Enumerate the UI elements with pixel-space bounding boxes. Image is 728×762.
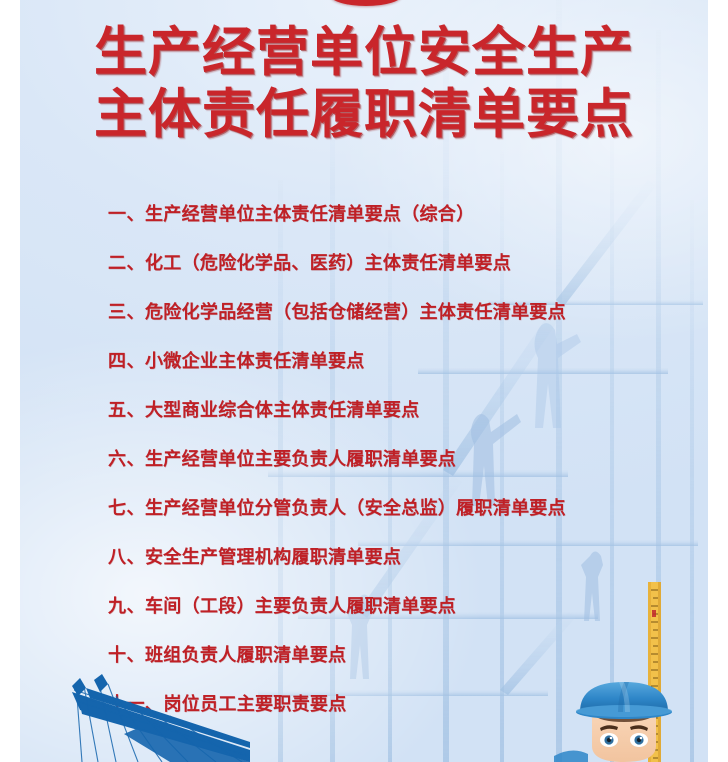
list-item-label: 危险化学品经营（包括仓储经营）主体责任清单要点 bbox=[145, 288, 566, 337]
list-item-index: 四、 bbox=[108, 337, 145, 386]
page-title: 生产经营单位安全生产 主体责任履职清单要点 bbox=[20, 22, 708, 146]
list-item-label: 班组负责人履职清单要点 bbox=[145, 631, 346, 680]
list-item-label: 生产经营单位分管负责人（安全总监）履职清单要点 bbox=[145, 484, 566, 533]
list-item-label: 岗位员工主要职责要点 bbox=[164, 680, 347, 729]
list-item-label: 安全生产管理机构履职清单要点 bbox=[145, 533, 401, 582]
list-item[interactable]: 三、 危险化学品经营（包括仓储经营）主体责任清单要点 bbox=[108, 288, 688, 337]
list-item[interactable]: 八、 安全生产管理机构履职清单要点 bbox=[108, 533, 688, 582]
list-item-index: 一、 bbox=[108, 190, 145, 239]
list-item[interactable]: 六、 生产经营单位主要负责人履职清单要点 bbox=[108, 435, 688, 484]
poster-root: 生产经营单位安全生产 主体责任履职清单要点 一、 生产经营单位主体责任清单要点（… bbox=[0, 0, 728, 762]
list-item-label: 生产经营单位主要负责人履职清单要点 bbox=[145, 435, 456, 484]
list-item[interactable]: 七、 生产经营单位分管负责人（安全总监）履职清单要点 bbox=[108, 484, 688, 533]
list-item[interactable]: 四、 小微企业主体责任清单要点 bbox=[108, 337, 688, 386]
list-item[interactable]: 十、 班组负责人履职清单要点 bbox=[108, 631, 688, 680]
list-item[interactable]: 一、 生产经营单位主体责任清单要点（综合） bbox=[108, 190, 688, 239]
list-item[interactable]: 十一、 岗位员工主要职责要点 bbox=[108, 680, 688, 729]
list-item-index: 八、 bbox=[108, 533, 145, 582]
list-item-label: 小微企业主体责任清单要点 bbox=[145, 337, 365, 386]
page-title-line-1: 生产经营单位安全生产 bbox=[20, 22, 708, 84]
list-item-index: 三、 bbox=[108, 288, 145, 337]
list-item-label: 生产经营单位主体责任清单要点（综合） bbox=[145, 190, 474, 239]
list-item[interactable]: 二、 化工（危险化学品、医药）主体责任清单要点 bbox=[108, 239, 688, 288]
contents-list: 一、 生产经营单位主体责任清单要点（综合） 二、 化工（危险化学品、医药）主体责… bbox=[108, 190, 688, 729]
list-item-label: 化工（危险化学品、医药）主体责任清单要点 bbox=[145, 239, 511, 288]
list-item-index: 九、 bbox=[108, 582, 145, 631]
list-item-index: 十、 bbox=[108, 631, 145, 680]
list-item-label: 车间（工段）主要负责人履职清单要点 bbox=[145, 582, 456, 631]
list-item-label: 大型商业综合体主体责任清单要点 bbox=[145, 386, 420, 435]
list-item[interactable]: 九、 车间（工段）主要负责人履职清单要点 bbox=[108, 582, 688, 631]
poster-canvas: 生产经营单位安全生产 主体责任履职清单要点 一、 生产经营单位主体责任清单要点（… bbox=[20, 0, 708, 762]
list-item-index: 七、 bbox=[108, 484, 145, 533]
list-item-index: 五、 bbox=[108, 386, 145, 435]
red-ribbon-nub bbox=[330, 0, 402, 6]
list-item-index: 六、 bbox=[108, 435, 145, 484]
list-item[interactable]: 五、 大型商业综合体主体责任清单要点 bbox=[108, 386, 688, 435]
list-item-index: 二、 bbox=[108, 239, 145, 288]
page-title-line-2: 主体责任履职清单要点 bbox=[20, 84, 708, 146]
list-item-index: 十一、 bbox=[108, 680, 164, 729]
